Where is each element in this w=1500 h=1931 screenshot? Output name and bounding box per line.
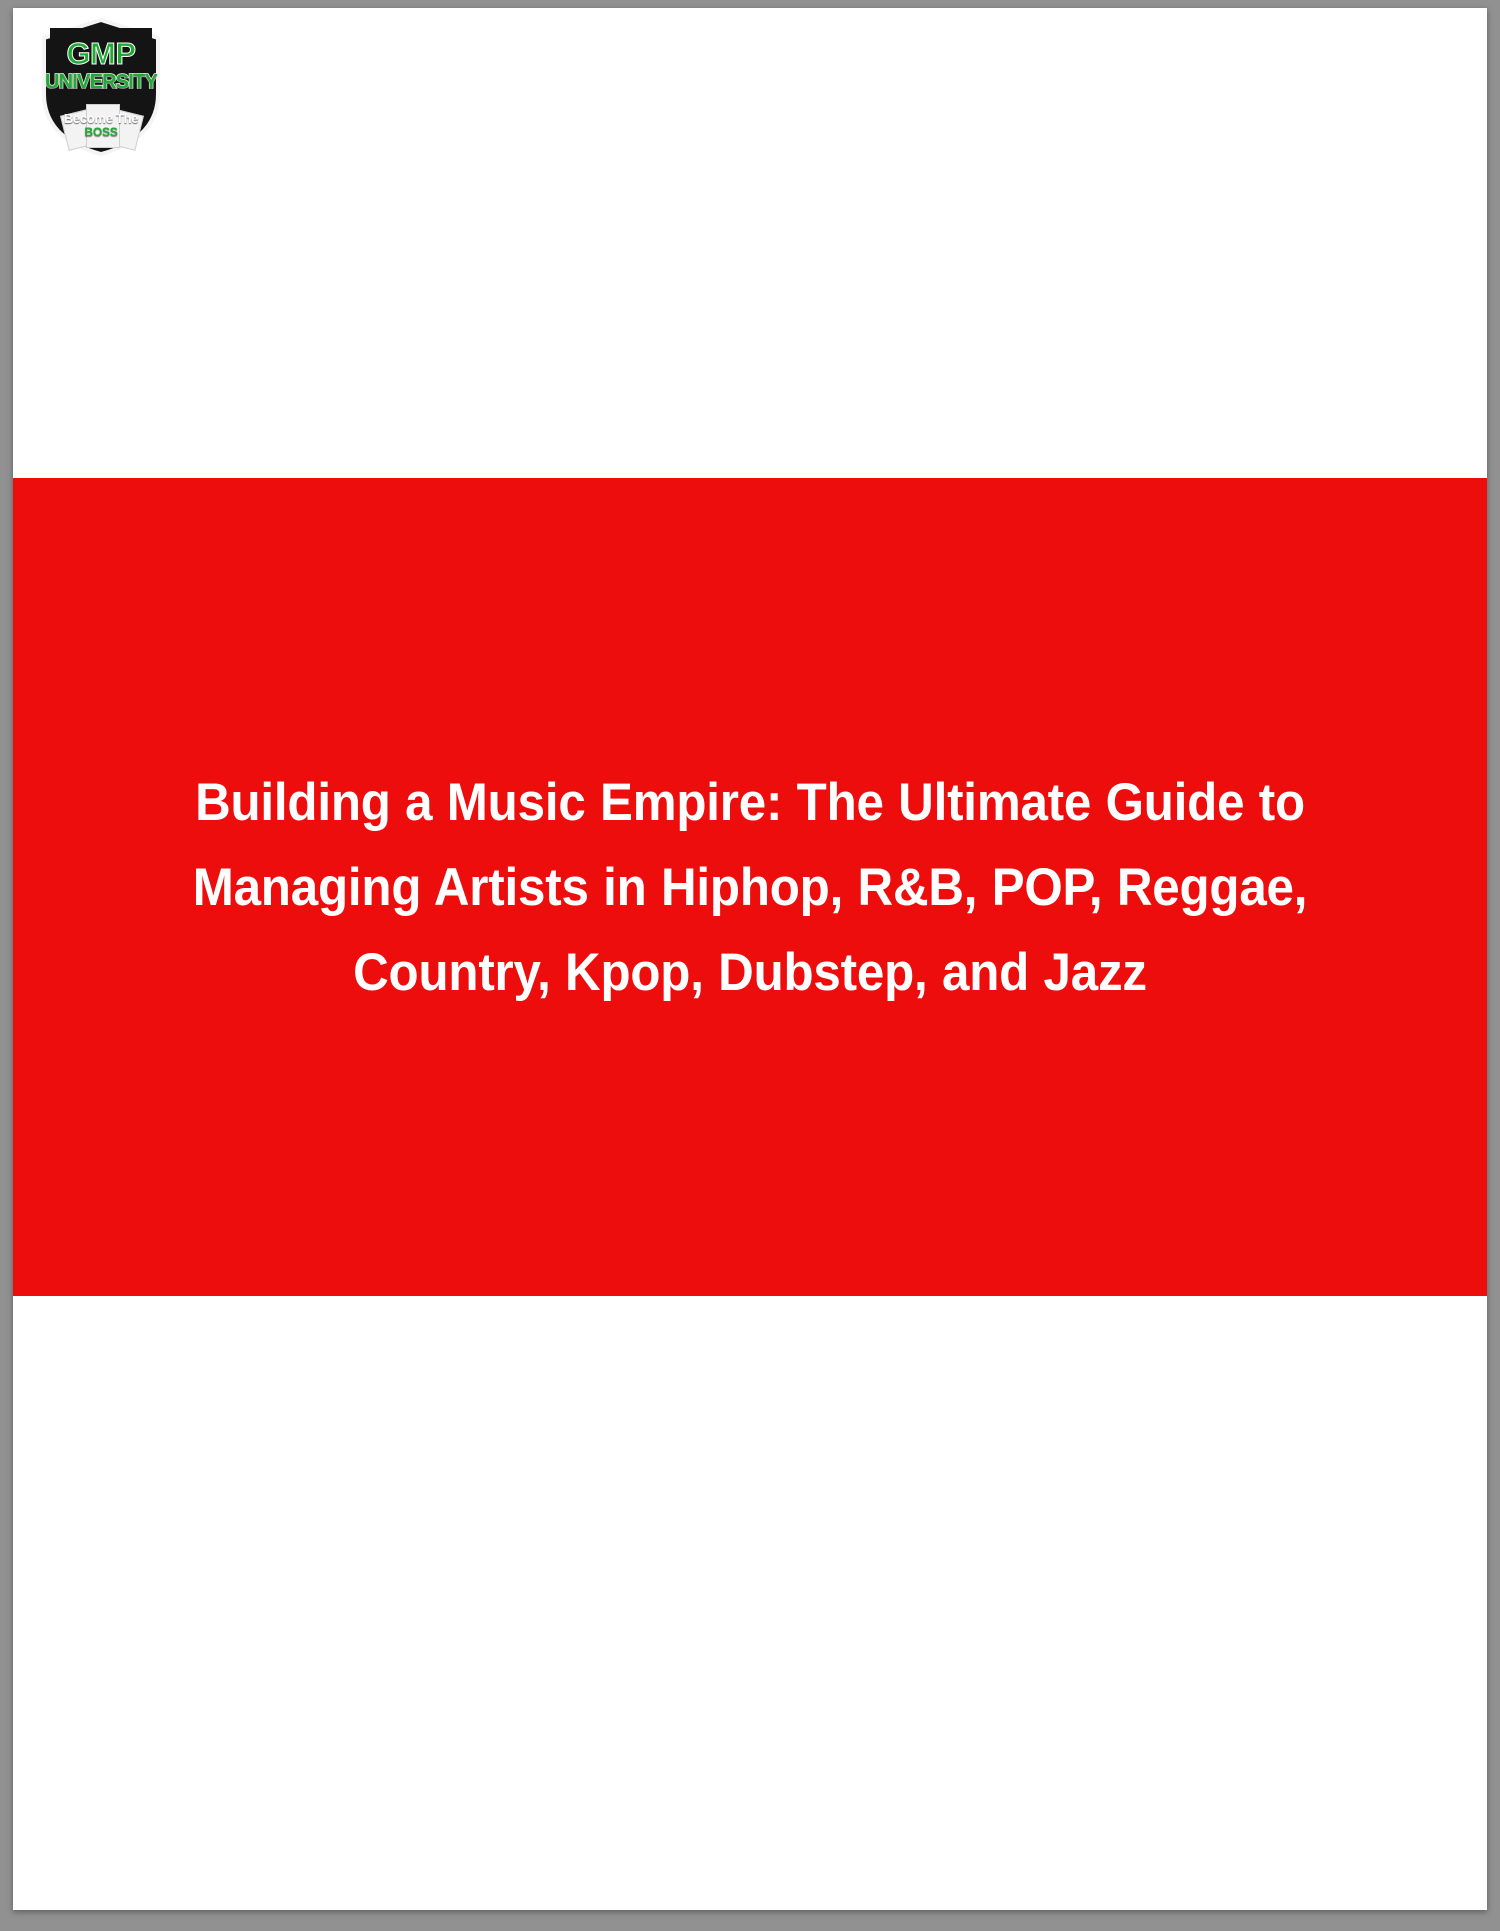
gmp-university-logo[interactable]: GMP UNIVERSITY Become The BOSS	[36, 16, 166, 158]
title-banner: Building a Music Empire: The Ultimate Gu…	[13, 478, 1487, 1296]
page-body-blank-area	[13, 1296, 1487, 1910]
document-viewport: GMP UNIVERSITY Become The BOSS Building …	[0, 0, 1500, 1931]
page-header: GMP UNIVERSITY Become The BOSS	[13, 8, 1487, 478]
logo-tagline-line2: BOSS	[36, 126, 166, 138]
logo-brand-subname: UNIVERSITY	[33, 72, 169, 92]
logo-tagline-line1: Become The	[36, 112, 166, 125]
document-title: Building a Music Empire: The Ultimate Gu…	[113, 760, 1387, 1015]
logo-brand-name: GMP	[36, 38, 166, 69]
document-page: GMP UNIVERSITY Become The BOSS Building …	[13, 8, 1487, 1910]
